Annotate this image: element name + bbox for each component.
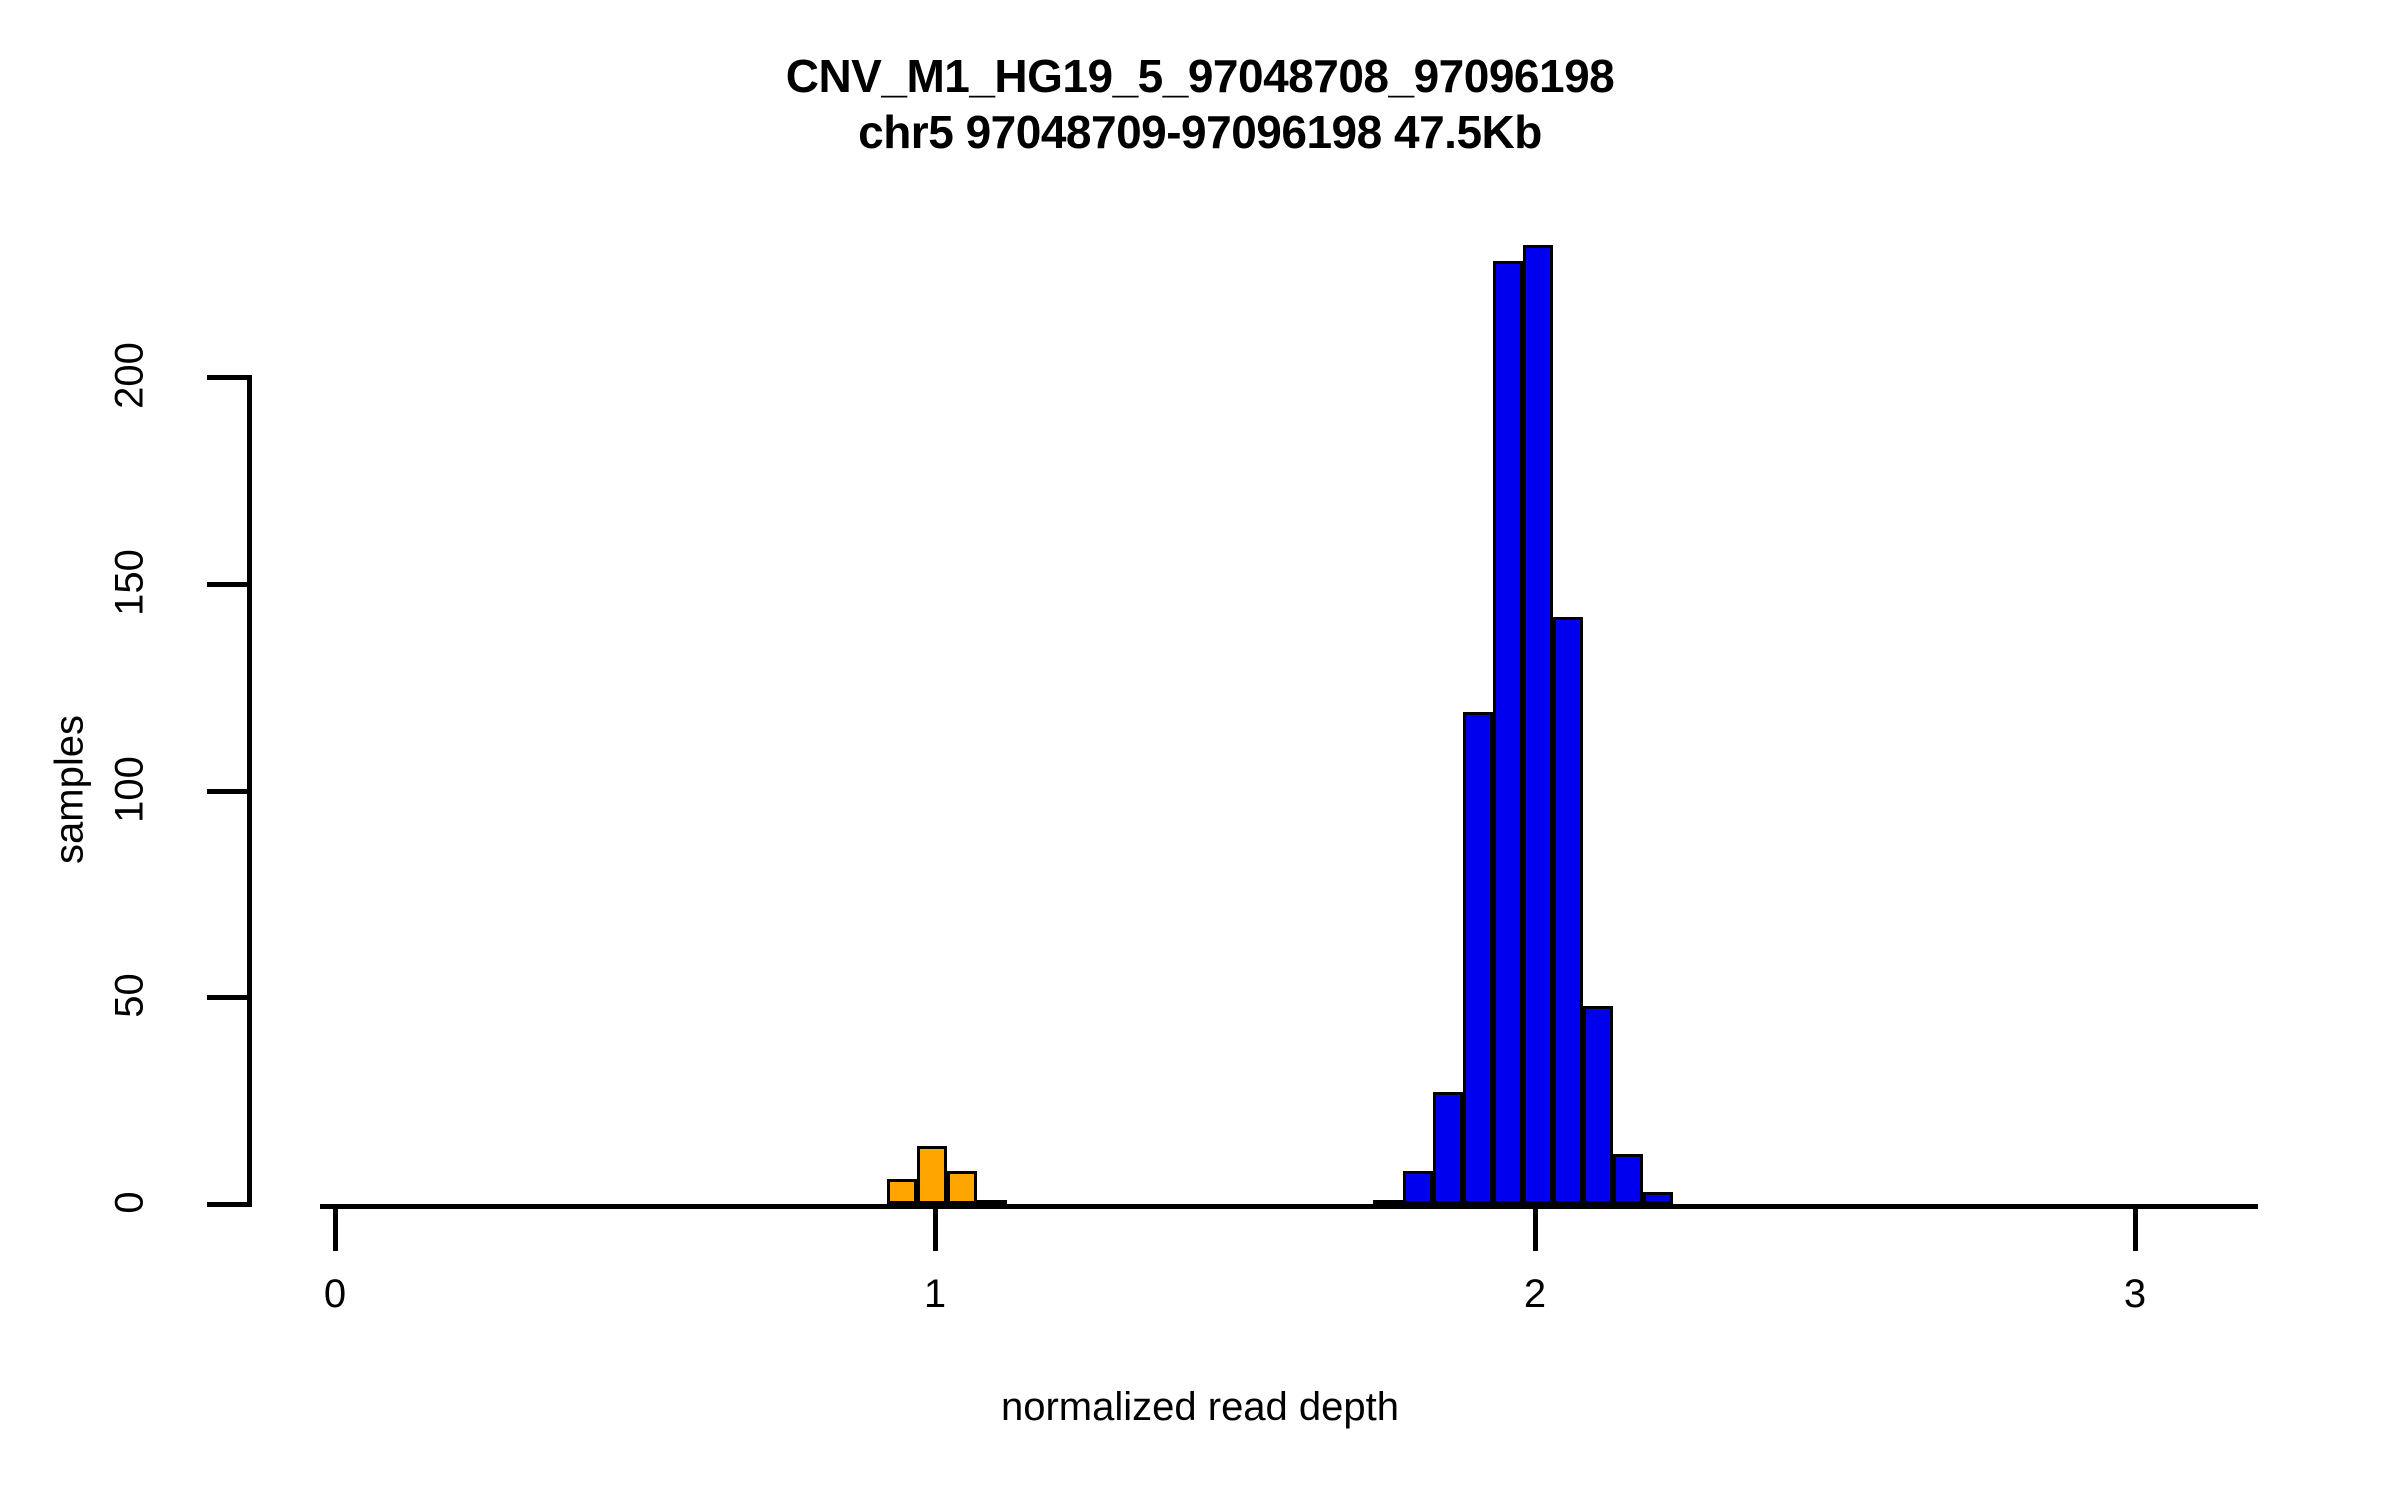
histogram-bar bbox=[1373, 1200, 1403, 1206]
histogram-bar bbox=[1403, 1171, 1433, 1204]
histogram-bar bbox=[977, 1200, 1007, 1206]
histogram-bar bbox=[917, 1146, 947, 1204]
histogram-bar bbox=[1613, 1154, 1643, 1204]
histogram-bar bbox=[1493, 261, 1523, 1204]
y-axis-tick-label: 150 bbox=[108, 522, 153, 642]
plot-title-line-1: CNV_M1_HG19_5_97048708_97096198 bbox=[0, 48, 2400, 104]
histogram-bar bbox=[947, 1171, 977, 1204]
histogram-bar bbox=[1463, 712, 1493, 1204]
x-axis-tick-label: 3 bbox=[2075, 1272, 2195, 1317]
plot-title: CNV_M1_HG19_5_97048708_97096198 chr5 970… bbox=[0, 48, 2400, 160]
x-axis-tick-label: 0 bbox=[275, 1272, 395, 1317]
y-axis-tick bbox=[207, 582, 252, 587]
y-axis-tick bbox=[207, 1202, 252, 1207]
x-axis-tick-label: 1 bbox=[875, 1272, 995, 1317]
x-axis-tick bbox=[1533, 1209, 1538, 1251]
x-axis-title: normalized read depth bbox=[0, 1385, 2400, 1430]
histogram-bar bbox=[1583, 1006, 1613, 1204]
plot-title-line-2: chr5 97048709-97096198 47.5Kb bbox=[0, 104, 2400, 160]
y-axis-title: samples bbox=[48, 659, 93, 919]
x-axis-tick bbox=[2133, 1209, 2138, 1251]
y-axis-tick bbox=[207, 995, 252, 1000]
plot-canvas: CNV_M1_HG19_5_97048708_97096198 chr5 970… bbox=[0, 0, 2400, 1500]
y-axis-tick-label: 50 bbox=[108, 936, 153, 1056]
x-axis-tick bbox=[333, 1209, 338, 1251]
y-axis-tick bbox=[207, 789, 252, 794]
x-axis-tick bbox=[933, 1209, 938, 1251]
histogram-bar bbox=[887, 1179, 917, 1204]
histogram-bar bbox=[1433, 1092, 1463, 1204]
y-axis-tick-label: 0 bbox=[108, 1143, 153, 1263]
histogram-bar bbox=[1643, 1192, 1673, 1204]
histogram-bar bbox=[1523, 245, 1553, 1204]
x-axis-tick-label: 2 bbox=[1475, 1272, 1595, 1317]
histogram-bar bbox=[1553, 617, 1583, 1204]
y-axis-tick-label: 200 bbox=[108, 316, 153, 436]
x-axis-line bbox=[320, 1204, 2258, 1209]
y-axis-tick bbox=[207, 375, 252, 380]
y-axis-tick-label: 100 bbox=[108, 729, 153, 849]
